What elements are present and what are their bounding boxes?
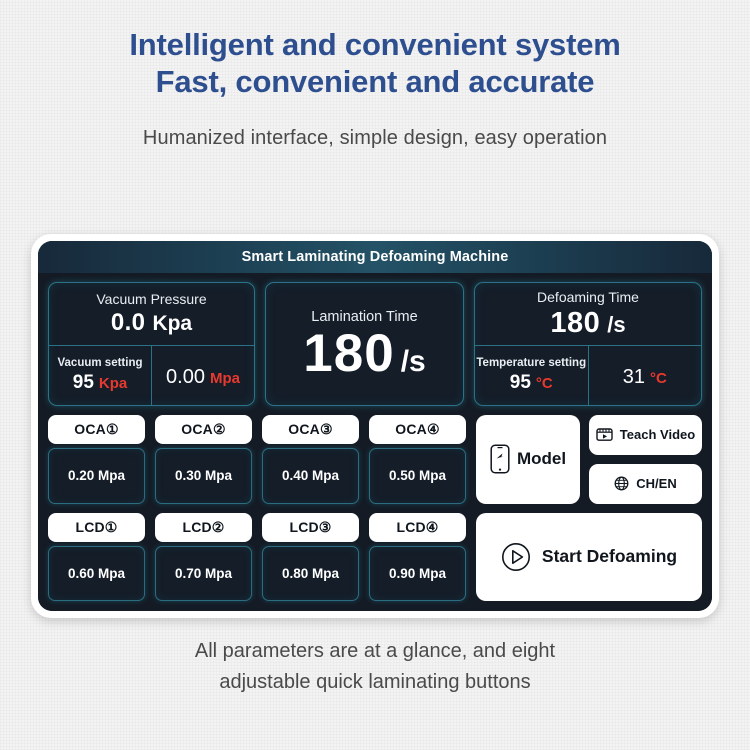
start-defoaming-label: Start Defoaming [542,546,677,567]
gauges-row: Vacuum Pressure 0.0 Kpa Vacuum setting [48,282,702,406]
caption-line-1: All parameters are at a glance, and eigh… [0,636,750,667]
teach-video-button[interactable]: Teach Video [589,415,702,455]
temperature-setting-value: 95 [510,372,531,394]
play-circle-icon [501,542,531,572]
phone-icon [490,444,510,474]
teach-video-label: Teach Video [620,427,695,442]
pressure-secondary-value: 0.00 [166,366,205,389]
oca-3-button[interactable]: OCA③ [262,415,359,444]
defoaming-time-readout: Defoaming Time 180 /s [475,283,701,346]
preset-pad[interactable]: LCD④ 0.90 Mpa [369,513,466,602]
model-button[interactable]: Model [476,415,580,504]
machine-bezel: Smart Laminating Defoaming Machine Vacuu… [31,234,719,618]
preset-pads: OCA① 0.20 Mpa OCA② 0.30 Mpa OCA③ 0.40 Mp… [48,415,466,601]
pressure-secondary-unit: Mpa [210,370,240,387]
temperature-setting-unit: °C [536,375,553,392]
vacuum-setting-field[interactable]: Vacuum setting 95 Kpa [49,346,152,405]
oca-1-value[interactable]: 0.20 Mpa [48,448,145,504]
start-defoaming-button[interactable]: Start Defoaming [476,513,702,602]
page-headline: Intelligent and convenient system Fast, … [0,0,750,100]
headline-line-1: Intelligent and convenient system [129,27,620,62]
caption-line-2: adjustable quick laminating buttons [0,667,750,698]
vacuum-pressure-value: 0.0 [111,309,146,337]
language-toggle-label: CH/EN [636,476,676,491]
vacuum-setting-label: Vacuum setting [58,357,143,369]
lcd-4-button[interactable]: LCD④ [369,513,466,542]
machine-body: Vacuum Pressure 0.0 Kpa Vacuum setting [38,273,712,611]
lcd-4-value[interactable]: 0.90 Mpa [369,546,466,602]
side-controls: Model [476,415,702,601]
temperature-setting-label: Temperature setting [476,357,586,369]
oca-button-row: OCA① 0.20 Mpa OCA② 0.30 Mpa OCA③ 0.40 Mp… [48,415,466,504]
page-caption: All parameters are at a glance, and eigh… [0,636,750,698]
lcd-2-value[interactable]: 0.70 Mpa [155,546,252,602]
globe-icon [614,476,629,491]
page-root: Intelligent and convenient system Fast, … [0,0,750,750]
machine-panel: Smart Laminating Defoaming Machine Vacuu… [31,234,719,618]
language-toggle-button[interactable]: CH/EN [589,464,702,504]
current-temperature-field[interactable]: 31 °C [589,346,702,405]
headline-line-2: Fast, convenient and accurate [0,63,750,100]
lamination-time-label: Lamination Time [311,309,417,325]
preset-pad[interactable]: LCD② 0.70 Mpa [155,513,252,602]
oca-4-button[interactable]: OCA④ [369,415,466,444]
oca-2-button[interactable]: OCA② [155,415,252,444]
lamination-time-unit: /s [401,345,426,379]
oca-1-button[interactable]: OCA① [48,415,145,444]
vacuum-setting-value: 95 [73,372,94,394]
machine-title-bar: Smart Laminating Defoaming Machine [38,241,712,273]
model-button-label: Model [517,449,566,469]
lcd-1-value[interactable]: 0.60 Mpa [48,546,145,602]
oca-4-value[interactable]: 0.50 Mpa [369,448,466,504]
oca-3-value[interactable]: 0.40 Mpa [262,448,359,504]
defoaming-time-label: Defoaming Time [537,289,639,305]
vacuum-pressure-readout: Vacuum Pressure 0.0 Kpa [49,283,254,346]
defoaming-time-value: 180 [550,307,600,340]
preset-pad[interactable]: LCD① 0.60 Mpa [48,513,145,602]
vacuum-setting-unit: Kpa [99,375,127,392]
current-temperature-value: 31 [623,366,645,389]
vacuum-pressure-card: Vacuum Pressure 0.0 Kpa Vacuum setting [48,282,255,406]
preset-pad[interactable]: LCD③ 0.80 Mpa [262,513,359,602]
lcd-2-button[interactable]: LCD② [155,513,252,542]
preset-pad[interactable]: OCA④ 0.50 Mpa [369,415,466,504]
lcd-3-value[interactable]: 0.80 Mpa [262,546,359,602]
temperature-setting-field[interactable]: Temperature setting 95 °C [475,346,589,405]
pressure-secondary-field[interactable]: 0.00 Mpa [152,346,254,405]
lcd-1-button[interactable]: LCD① [48,513,145,542]
machine-title: Smart Laminating Defoaming Machine [242,249,509,265]
preset-pad[interactable]: OCA③ 0.40 Mpa [262,415,359,504]
oca-2-value[interactable]: 0.30 Mpa [155,448,252,504]
defoaming-time-unit: /s [607,312,625,338]
lamination-time-value: 180 [303,327,394,380]
lamination-time-card: Lamination Time 180 /s [265,282,464,406]
preset-pad[interactable]: OCA① 0.20 Mpa [48,415,145,504]
controls-area: OCA① 0.20 Mpa OCA② 0.30 Mpa OCA③ 0.40 Mp… [48,415,702,601]
defoaming-time-card: Defoaming Time 180 /s Temperature settin… [474,282,702,406]
current-temperature-unit: °C [650,370,667,387]
page-subheading: Humanized interface, simple design, easy… [0,127,750,150]
vacuum-pressure-unit: Kpa [152,312,192,336]
vacuum-pressure-label: Vacuum Pressure [96,291,206,307]
video-icon [596,427,613,442]
lcd-button-row: LCD① 0.60 Mpa LCD② 0.70 Mpa LCD③ 0.80 Mp… [48,513,466,602]
preset-pad[interactable]: OCA② 0.30 Mpa [155,415,252,504]
machine-screen: Smart Laminating Defoaming Machine Vacuu… [38,241,712,611]
lcd-3-button[interactable]: LCD③ [262,513,359,542]
